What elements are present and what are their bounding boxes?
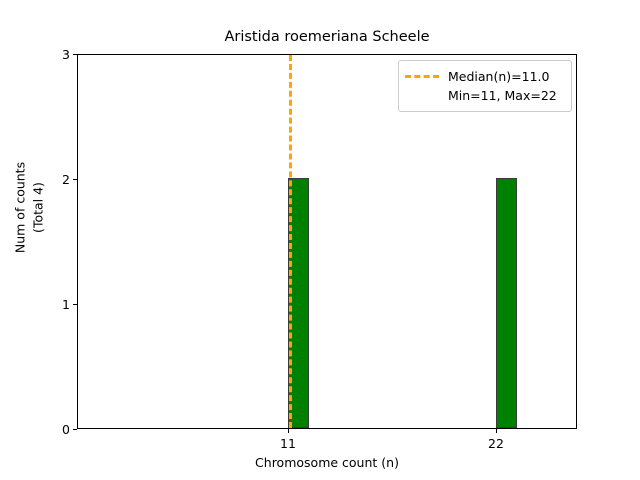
legend-label-median: Median(n)=11.0 [448,69,549,84]
x-tick-mark-11 [288,429,289,433]
median-line [289,55,292,428]
y-tick-label-1: 1 [52,297,70,312]
y-tick-label-0: 0 [52,422,70,437]
chart-figure: Aristida roemeriana Scheele Num of count… [0,0,640,480]
bar-22[interactable] [496,178,517,428]
legend-entry-median: Median(n)=11.0 [405,67,563,86]
legend-entry-minmax: Min=11, Max=22 [405,86,563,105]
chart-title: Aristida roemeriana Scheele [77,30,577,45]
x-tick-mark-22 [496,429,497,433]
x-axis-label: Chromosome count (n) [77,455,577,470]
y-axis-label: Num of counts [13,58,28,358]
y-tick-label-3: 3 [52,47,70,62]
dashed-line-icon [405,75,439,78]
legend-label-minmax: Min=11, Max=22 [448,88,557,103]
x-tick-label-22: 22 [456,436,536,451]
y-tick-mark-0 [73,429,77,430]
x-tick-label-11: 11 [248,436,328,451]
y-tick-label-2: 2 [52,172,70,187]
chart-legend: Median(n)=11.0 Min=11, Max=22 [398,60,572,112]
y-axis-sublabel: (Total 4) [31,58,46,358]
